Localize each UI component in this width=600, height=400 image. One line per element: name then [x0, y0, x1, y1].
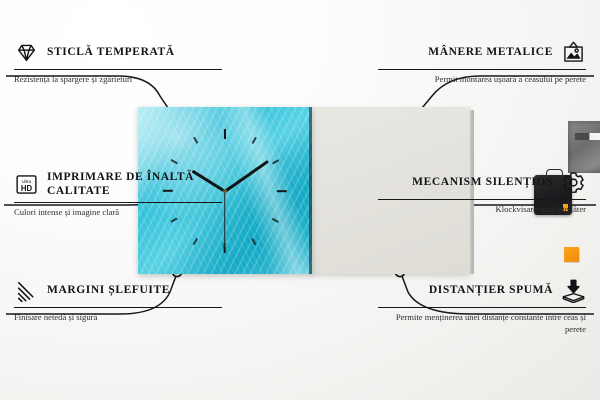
- feature-title: MÂNERE METALICE: [428, 45, 553, 59]
- feature-header: DISTANȚIER SPUMĂ: [378, 278, 586, 303]
- infographic-canvas: STICLĂ TEMPERATĂ Rezistență la spargere …: [0, 0, 600, 400]
- feature-header: STICLĂ TEMPERATĂ: [14, 40, 222, 65]
- feature-title: STICLĂ TEMPERATĂ: [47, 45, 175, 59]
- feature-header: MÂNERE METALICE: [378, 40, 586, 65]
- tick-3: [225, 190, 287, 192]
- divider: [14, 69, 222, 70]
- feature-title: MARGINI ȘLEFUITE: [47, 283, 170, 297]
- feature-subtitle: Permit montarea ușoară a ceasului pe per…: [378, 74, 586, 86]
- divider: [378, 307, 586, 308]
- feature-silent-mechanism: MECANISM SILENȚIOS Klockvisare som inte …: [378, 170, 586, 216]
- feature-header: MARGINI ȘLEFUITE: [14, 278, 222, 303]
- divider: [14, 307, 222, 308]
- glass-edge: [309, 107, 312, 274]
- svg-text:HD: HD: [21, 183, 33, 192]
- hands-center-cap: [223, 189, 227, 193]
- foam-spacer-pad: [564, 247, 579, 262]
- divider: [14, 202, 222, 203]
- press-down-pad-icon: [561, 278, 586, 303]
- feature-foam-spacer: DISTANȚIER SPUMĂ Permite menținerea unei…: [378, 278, 586, 336]
- gear-icon: [561, 170, 586, 195]
- feature-high-quality-print: ultra HD IMPRIMARE DE ÎNALTĂ CALITATE Cu…: [14, 170, 222, 219]
- feature-tempered-glass: STICLĂ TEMPERATĂ Rezistență la spargere …: [14, 40, 222, 86]
- metal-hanger-bracket: [568, 121, 600, 173]
- feature-title: IMPRIMARE DE ÎNALTĂ CALITATE: [47, 170, 222, 198]
- feature-title: DISTANȚIER SPUMĂ: [429, 283, 553, 297]
- feature-subtitle: Klockvisare som inte låter: [378, 204, 586, 216]
- diagonal-lines-icon: [14, 278, 39, 303]
- feature-title: MECANISM SILENȚIOS: [412, 175, 553, 189]
- feature-polished-edges: MARGINI ȘLEFUITE Finisare netedă și sigu…: [14, 278, 222, 324]
- feature-subtitle: Rezistență la spargere și zgârieturi: [14, 74, 222, 86]
- diamond-icon: [14, 40, 39, 65]
- tick-12: [224, 129, 226, 191]
- feature-subtitle: Culori intense și imagine clară: [14, 207, 222, 219]
- ultra-hd-badge-icon: ultra HD: [14, 172, 39, 197]
- feature-subtitle: Finisare netedă și sigură: [14, 312, 222, 324]
- feature-header: ultra HD IMPRIMARE DE ÎNALTĂ CALITATE: [14, 170, 222, 198]
- hanging-picture-icon: [561, 40, 586, 65]
- feature-metal-handles: MÂNERE METALICE Permit montarea ușoară a…: [378, 40, 586, 86]
- divider: [378, 199, 586, 200]
- hanger-slot: [575, 133, 600, 140]
- feature-header: MECANISM SILENȚIOS: [378, 170, 586, 195]
- feature-subtitle: Permite menținerea unei distanțe constan…: [378, 312, 586, 335]
- divider: [378, 69, 586, 70]
